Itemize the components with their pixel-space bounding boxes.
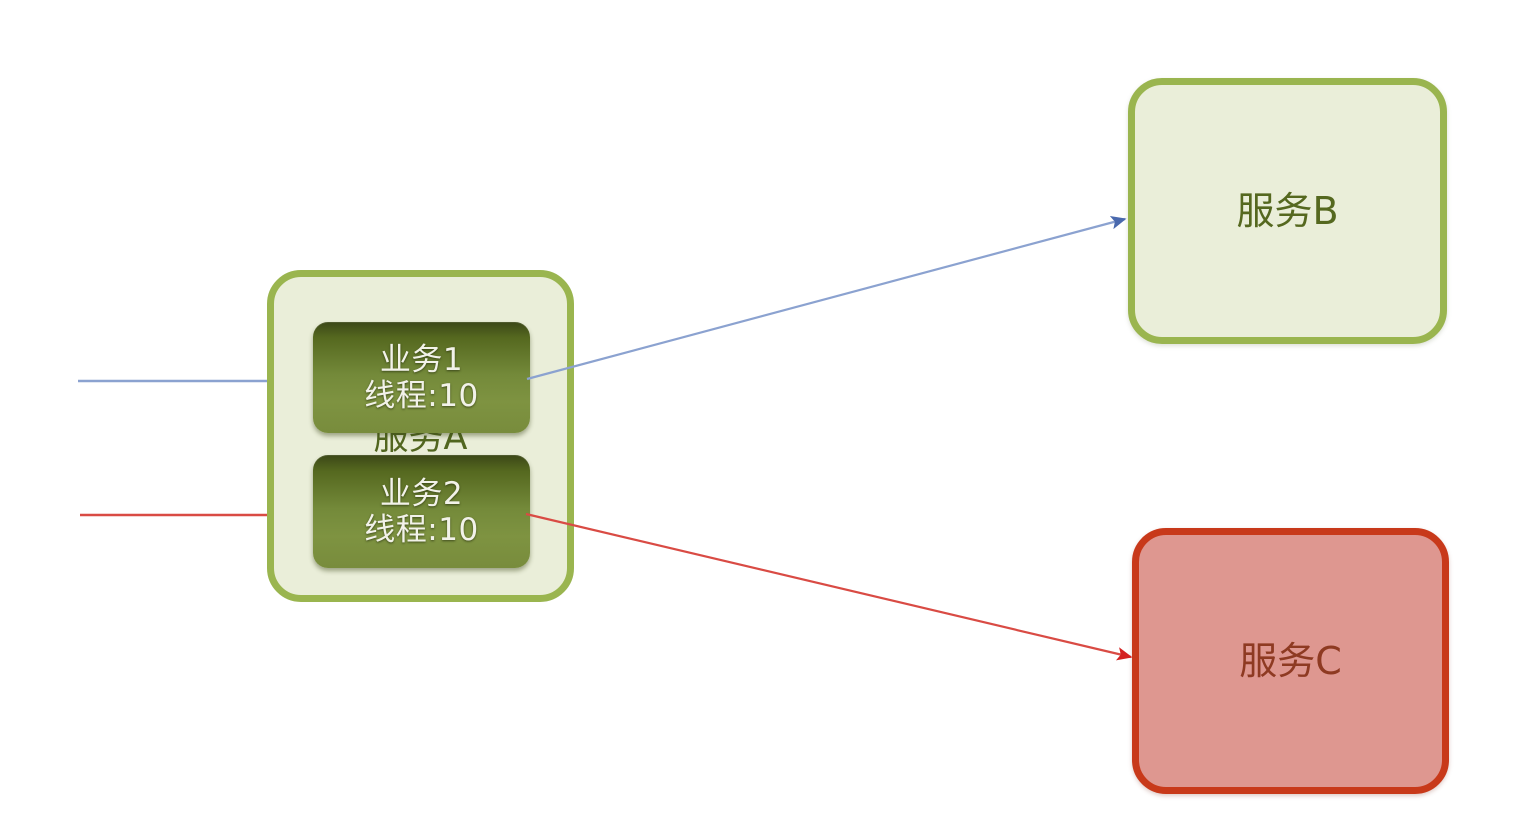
task-1-name: 业务1: [380, 342, 463, 378]
task-1-threads: 线程:10: [364, 378, 478, 414]
node-service-c-label: 服务C: [1239, 640, 1342, 682]
edge-out-red-to-service-c: [526, 514, 1131, 657]
task-box-business-1[interactable]: 业务1 线程:10: [313, 322, 530, 433]
task-box-business-2[interactable]: 业务2 线程:10: [313, 455, 530, 568]
node-service-b[interactable]: 服务B: [1128, 78, 1447, 344]
task-2-threads: 线程:10: [364, 512, 478, 548]
node-service-c[interactable]: 服务C: [1132, 528, 1449, 794]
edge-out-blue-to-service-b: [527, 219, 1125, 379]
node-service-b-label: 服务B: [1236, 190, 1338, 232]
task-2-name: 业务2: [380, 476, 463, 512]
diagram-canvas: 服务A 业务1 线程:10 业务2 线程:10 服务B 服务C: [0, 0, 1521, 833]
